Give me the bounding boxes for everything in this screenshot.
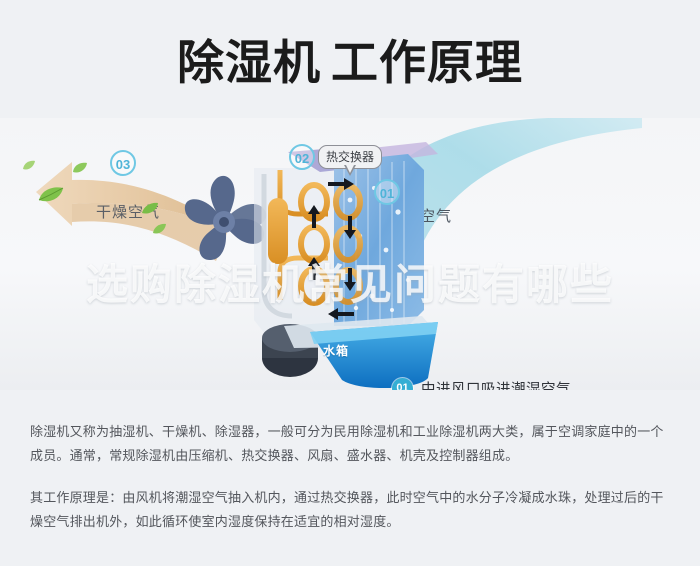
- infographic-page: 除湿机工作原理 干燥空气: [0, 0, 700, 566]
- page-title: 除湿机工作原理: [0, 34, 700, 92]
- steps-list: 01 中进风口吸进潮湿空气 02 潮湿空气经过蒸发器冷凝成水珠 03 从上部出风…: [392, 370, 692, 390]
- title-band: 除湿机工作原理: [0, 0, 700, 120]
- diagram-badge-02: 02: [289, 144, 315, 170]
- diagram-badge-03: 03: [110, 150, 136, 176]
- title-part-2: 工作原理: [331, 36, 523, 89]
- body-copy: 除湿机又称为抽湿机、干燥机、除湿器，一般可分为民用除湿机和工业除湿机两大类，属于…: [0, 390, 700, 566]
- callout-tail-icon: [344, 165, 356, 176]
- title-part-1: 除湿机: [177, 36, 321, 89]
- diagram-badge-01: 01: [374, 179, 400, 205]
- step-text-01: 中进风口吸进潮湿空气: [421, 378, 571, 391]
- paragraph-1: 除湿机又称为抽湿机、干燥机、除湿器，一般可分为民用除湿机和工业除湿机两大类，属于…: [30, 420, 670, 468]
- leaf-icon: [72, 162, 88, 174]
- illustration-stage: 干燥空气 潮湿空气: [0, 118, 700, 390]
- leaf-icon: [22, 160, 36, 171]
- step-badge-01: 01: [392, 378, 413, 391]
- leaf-icon: [141, 202, 159, 215]
- water-tank-label: 水箱: [323, 342, 349, 359]
- list-item: 01 中进风口吸进潮湿空气: [392, 370, 692, 390]
- paragraph-2: 其工作原理是：由风机将潮湿空气抽入机内，通过热交换器，此时空气中的水分子冷凝成水…: [30, 486, 670, 534]
- leaf-icon: [38, 186, 64, 204]
